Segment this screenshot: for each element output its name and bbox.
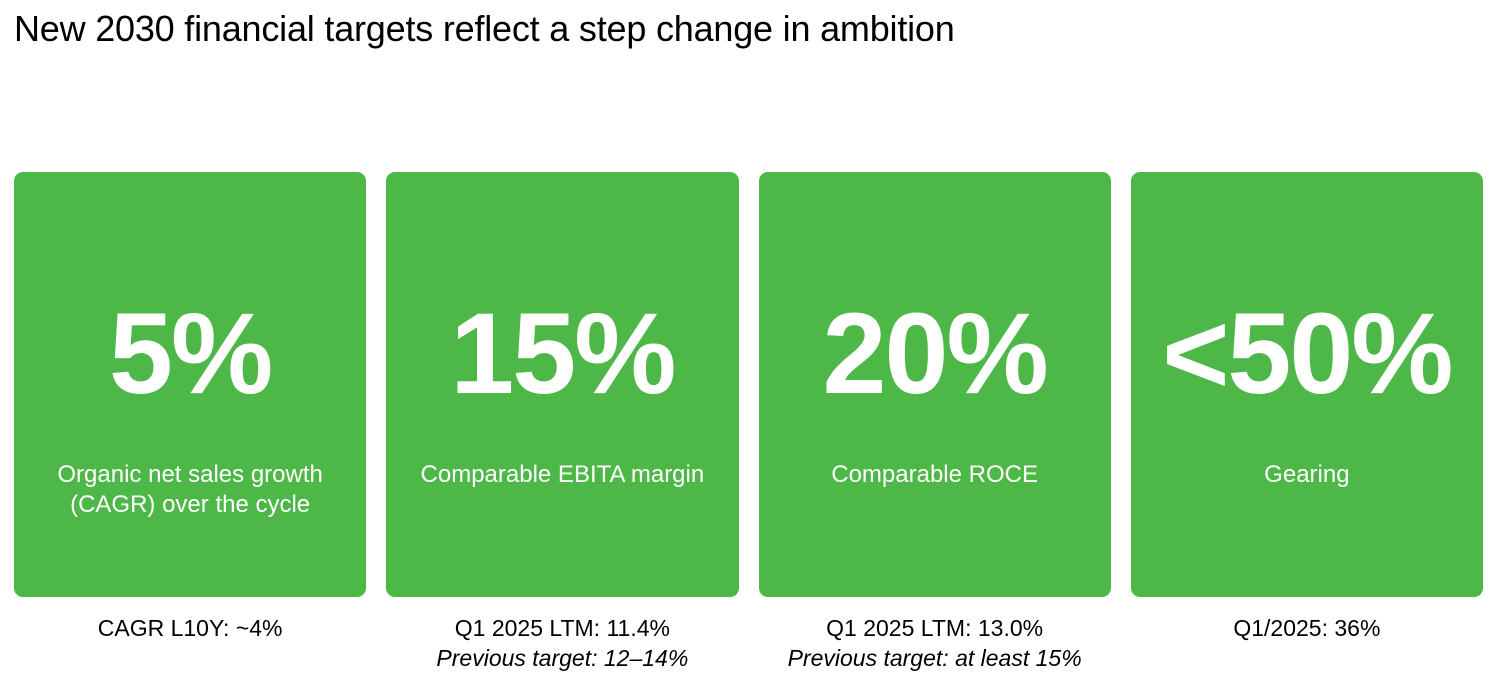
footnote-current-value: Q1 2025 LTM: 13.0% [759, 613, 1111, 643]
target-card-gearing[interactable]: <50% Gearing [1131, 172, 1483, 597]
target-value: <50% [1131, 297, 1483, 412]
footnote-current-value: Q1/2025: 36% [1131, 613, 1483, 643]
target-card-organic-net-sales-growth[interactable]: 5% Organic net sales growth (CAGR) over … [14, 172, 366, 597]
footnote-organic-net-sales-growth: CAGR L10Y: ~4% [14, 613, 366, 693]
target-caption: Gearing [1145, 460, 1469, 490]
footnote-current-value: Q1 2025 LTM: 11.4% [386, 613, 738, 643]
page-title: New 2030 financial targets reflect a ste… [14, 7, 955, 51]
footnote-previous-target: Previous target: 12–14% [386, 643, 738, 673]
footnote-previous-target: Previous target: at least 15% [759, 643, 1111, 673]
target-value: 15% [386, 297, 738, 412]
target-caption: Comparable ROCE [773, 460, 1097, 490]
target-card-comparable-ebita-margin[interactable]: 15% Comparable EBITA margin [386, 172, 738, 597]
footnote-current-value: CAGR L10Y: ~4% [14, 613, 366, 643]
footnote-gearing: Q1/2025: 36% [1131, 613, 1483, 693]
target-card-comparable-roce[interactable]: 20% Comparable ROCE [759, 172, 1111, 597]
target-value: 5% [14, 297, 366, 412]
footnotes-row: CAGR L10Y: ~4% Q1 2025 LTM: 11.4% Previo… [14, 613, 1483, 693]
footnote-comparable-ebita-margin: Q1 2025 LTM: 11.4% Previous target: 12–1… [386, 613, 738, 693]
footnote-comparable-roce: Q1 2025 LTM: 13.0% Previous target: at l… [759, 613, 1111, 693]
target-caption: Comparable EBITA margin [400, 460, 724, 490]
target-value: 20% [759, 297, 1111, 412]
target-caption: Organic net sales growth (CAGR) over the… [28, 460, 352, 520]
target-cards-row: 5% Organic net sales growth (CAGR) over … [14, 172, 1483, 597]
